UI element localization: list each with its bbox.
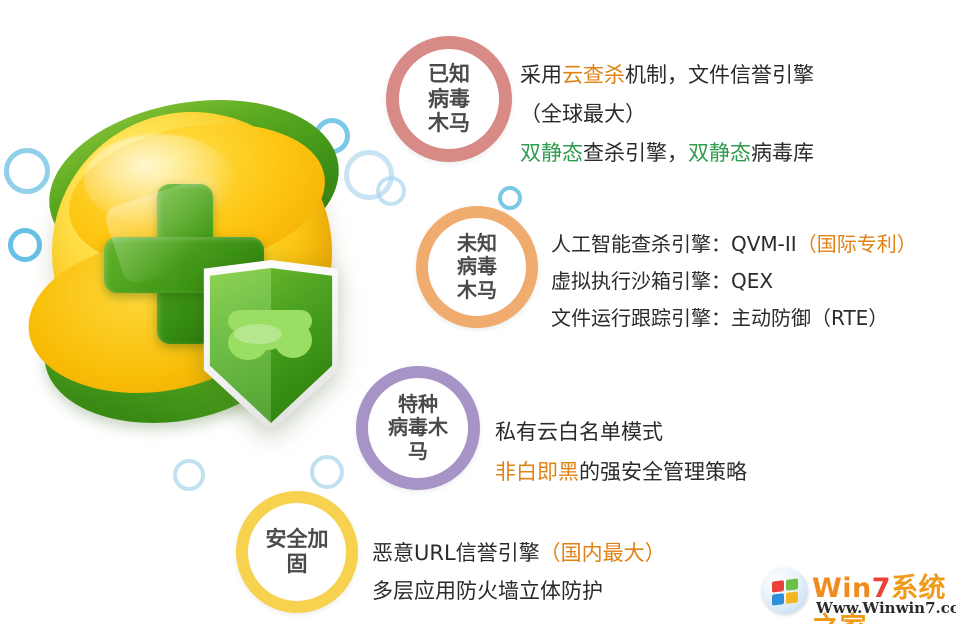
text-segment: 云查杀 [562,63,625,87]
windows-flag-icon [772,578,798,605]
watermark-url: Www.Winwin7.com [816,599,956,617]
text-line: 人工智能查杀引擎：QVM-II（国际专利） [551,226,917,263]
deco-ring-8 [498,186,522,210]
text-special-virus: 私有云白名单模式非白即黑的强安全管理策略 [495,412,747,492]
text-segment: 多层应用防火墙立体防护 [372,579,603,603]
text-line: 采用云查杀机制，文件信誉引擎 [520,56,814,95]
text-line: 私有云白名单模式 [495,412,747,452]
text-unknown-virus: 人工智能查杀引擎：QVM-II（国际专利）虚拟执行沙箱引擎：QEX文件运行跟踪引… [551,226,917,337]
flag-pane-green [786,578,798,590]
text-line: 多层应用防火墙立体防护 [372,572,666,610]
bubble-line-3: 木马 [428,111,470,136]
text-line: （全球最大） [520,95,814,134]
cloud-highlight [234,324,282,344]
text-segment: （国内最大） [540,541,666,565]
watermark: Win7系统之家 Www.Winwin7.com [762,566,950,618]
bubble-security-hardening[interactable]: 安全加 固 [236,491,358,613]
bubble-line-1: 已知 [428,62,470,87]
cloud-puff-right [274,322,312,358]
flag-pane-blue [772,593,784,605]
cloud-shield-icon [198,260,344,432]
text-segment: 双静态 [688,141,751,165]
bubble-known-virus-label: 已知 病毒 木马 [418,62,480,136]
bubble-line-2: 病毒 [428,87,470,112]
flag-pane-red [772,580,784,592]
text-line: 双静态查杀引擎，双静态病毒库 [520,134,814,173]
cloud-icon [228,310,316,360]
bubble-unknown-virus[interactable]: 未知 病毒 木马 [416,206,538,328]
deco-ring-5 [376,176,406,206]
text-line: 文件运行跟踪引擎：主动防御（RTE） [551,300,917,337]
text-segment: 采用 [520,63,562,87]
text-line: 非白即黑的强安全管理策略 [495,452,747,492]
text-segment: 的强安全管理策略 [579,460,747,484]
bubble-line-2: 病毒木 [388,416,448,440]
bubble-line-2: 固 [266,552,329,577]
bubble-unknown-virus-label: 未知 病毒 木马 [447,232,507,303]
flag-pane-yellow [786,591,798,603]
text-line: 恶意URL信誉引擎（国内最大） [372,534,666,572]
text-segment: （全球最大） [520,102,646,126]
bubble-security-hardening-label: 安全加 固 [256,527,339,577]
deco-ring-7 [310,455,344,489]
text-segment: 病毒库 [751,141,814,165]
bubble-special-virus[interactable]: 特种 病毒木 马 [356,366,480,490]
bubble-line-1: 未知 [457,232,497,256]
bubble-line-1: 特种 [388,393,448,417]
windows-orb-icon [762,568,808,614]
bubble-line-2: 病毒 [457,255,497,279]
text-segment: 人工智能查杀引擎：QVM-II [551,232,797,256]
text-segment: 非白即黑 [495,460,579,484]
text-segment: 恶意URL信誉引擎 [372,541,540,565]
bubble-special-virus-label: 特种 病毒木 马 [378,393,458,464]
text-segment: 双静态 [520,141,583,165]
text-line: 虚拟执行沙箱引擎：QEX [551,263,917,300]
bubble-known-virus[interactable]: 已知 病毒 木马 [386,36,512,162]
text-segment: 机制，文件信誉引擎 [625,63,814,87]
360-total-security-logo [22,92,352,422]
infographic-canvas: 已知 病毒 木马 采用云查杀机制，文件信誉引擎（全球最大）双静态查杀引擎，双静态… [0,0,956,624]
bubble-line-1: 安全加 [266,527,329,552]
text-segment: 虚拟执行沙箱引擎：QEX [551,269,773,293]
text-known-virus: 采用云查杀机制，文件信誉引擎（全球最大）双静态查杀引擎，双静态病毒库 [520,56,814,173]
text-segment: 查杀引擎， [583,141,688,165]
deco-ring-6 [173,459,205,491]
bubble-line-3: 木马 [457,279,497,303]
text-segment: （国际专利） [797,232,917,256]
text-segment: 文件运行跟踪引擎：主动防御（RTE） [551,306,888,330]
text-segment: 私有云白名单模式 [495,420,663,444]
bubble-line-3: 马 [388,440,448,464]
text-security-hardening: 恶意URL信誉引擎（国内最大）多层应用防火墙立体防护 [372,534,666,610]
